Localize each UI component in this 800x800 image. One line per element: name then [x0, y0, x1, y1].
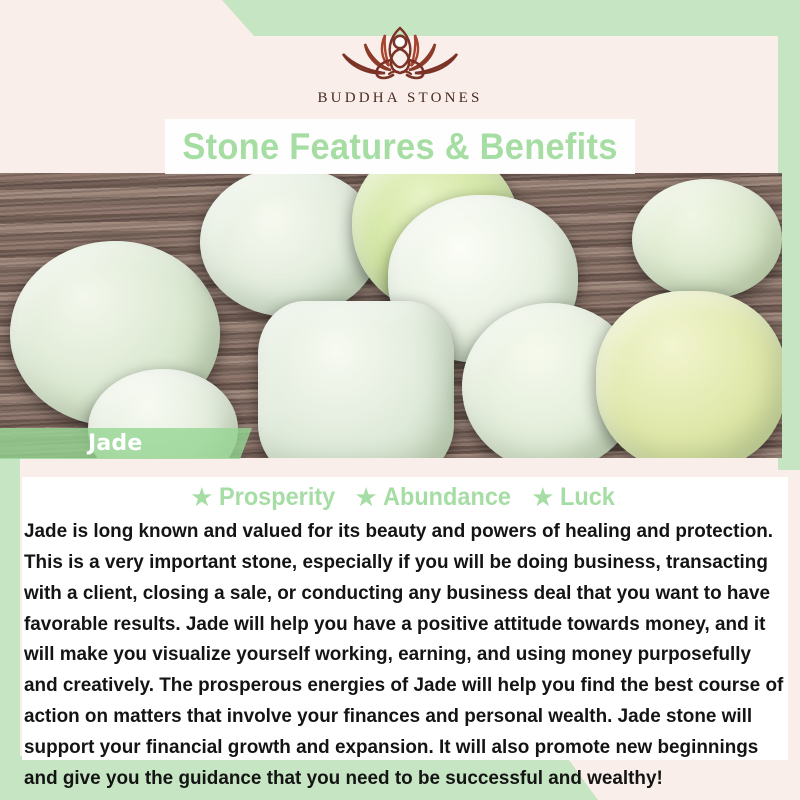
- stone-name-banner: Jade: [0, 428, 252, 459]
- benefit-item-luck: ★ Luck: [533, 483, 619, 512]
- benefit-label: Abundance: [383, 483, 511, 512]
- benefits-row: ★ Prosperity ★ Abundance ★ Luck: [22, 481, 788, 513]
- title-banner: Stone Features & Benefits: [165, 119, 635, 174]
- infographic-page: BUDDHA STONES Stone Features & Benefits …: [0, 0, 800, 800]
- benefit-label: Prosperity: [219, 483, 335, 512]
- stone-name-label: Jade: [88, 431, 143, 456]
- stone-item: [596, 291, 782, 458]
- stone-item: [200, 173, 380, 317]
- benefit-label: Luck: [560, 483, 615, 512]
- stone-photo: [0, 173, 782, 458]
- star-icon: ★: [191, 486, 212, 509]
- benefit-item-abundance: ★ Abundance: [356, 483, 520, 512]
- benefit-item-prosperity: ★ Prosperity: [191, 483, 342, 512]
- stone-item: [258, 301, 454, 458]
- lotus-meditation-icon: [325, 22, 475, 84]
- star-icon: ★: [533, 486, 554, 509]
- stone-description: Jade is long known and valued for its be…: [24, 516, 788, 794]
- content-panel: ★ Prosperity ★ Abundance ★ Luck Jade is …: [22, 477, 788, 760]
- stone-item: [632, 179, 782, 299]
- page-title: Stone Features & Benefits: [182, 126, 617, 168]
- star-icon: ★: [356, 486, 377, 509]
- brand-name: BUDDHA STONES: [317, 90, 482, 107]
